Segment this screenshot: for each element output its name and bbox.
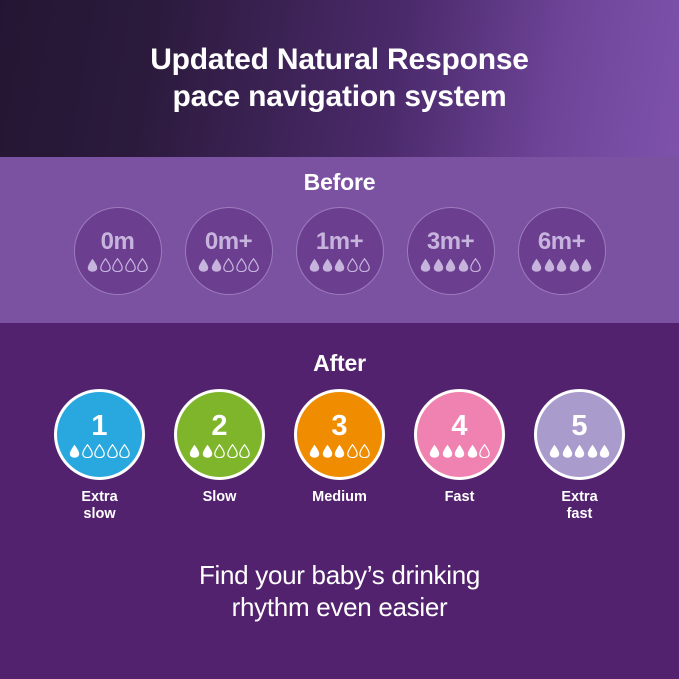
tagline-line-1: Find your baby’s drinking [0, 559, 679, 591]
droplet-outline-icon [107, 444, 118, 458]
droplet-filled-icon [531, 258, 542, 272]
before-circle: 0m [74, 207, 162, 295]
droplet-filled-icon [442, 444, 453, 458]
after-caption: Fast [445, 489, 475, 506]
after-circle-flow-5: 5 [534, 389, 625, 480]
before-droplet-row [87, 258, 148, 272]
before-circle: 1m+ [296, 207, 384, 295]
after-droplet-row [429, 444, 490, 458]
droplet-filled-icon [556, 258, 567, 272]
page-title: Updated Natural Response pace navigation… [110, 42, 569, 115]
after-number-label: 5 [571, 412, 587, 441]
droplet-filled-icon [420, 258, 431, 272]
after-section: After 1Extraslow2Slow3Medium4Fast5Extraf… [0, 323, 679, 679]
after-caption-line-1: Medium [312, 489, 367, 505]
before-section: Before 0m0m+1m+3m+6m+ [0, 157, 679, 323]
droplet-outline-icon [125, 258, 136, 272]
droplet-filled-icon [198, 258, 209, 272]
droplet-outline-icon [359, 444, 370, 458]
droplet-outline-icon [214, 444, 225, 458]
droplet-filled-icon [599, 444, 610, 458]
droplet-outline-icon [100, 258, 111, 272]
droplet-filled-icon [454, 444, 465, 458]
before-droplet-row [420, 258, 481, 272]
before-age-label: 3m+ [427, 230, 474, 254]
after-item-2: 2Slow [168, 389, 272, 506]
after-circle-flow-3: 3 [294, 389, 385, 480]
droplet-filled-icon [69, 444, 80, 458]
after-caption-line-1: Extra [561, 489, 597, 505]
after-circle-row: 1Extraslow2Slow3Medium4Fast5Extrafast [0, 389, 679, 523]
droplet-outline-icon [248, 258, 259, 272]
before-droplet-row [531, 258, 592, 272]
droplet-filled-icon [189, 444, 200, 458]
after-caption: Slow [203, 489, 237, 506]
after-caption-line-1: Slow [203, 489, 237, 505]
droplet-filled-icon [334, 258, 345, 272]
header-banner: Updated Natural Response pace navigation… [0, 0, 679, 157]
droplet-filled-icon [445, 258, 456, 272]
droplet-outline-icon [119, 444, 130, 458]
droplet-outline-icon [227, 444, 238, 458]
droplet-filled-icon [569, 258, 580, 272]
after-caption-line-2: slow [83, 506, 115, 522]
after-caption: Extraslow [81, 489, 117, 523]
after-droplet-row [549, 444, 610, 458]
droplet-filled-icon [581, 258, 592, 272]
before-age-label: 0m+ [205, 230, 252, 254]
after-droplet-row [189, 444, 250, 458]
after-item-1: 1Extraslow [48, 389, 152, 523]
before-item-3mplus: 3m+ [406, 207, 496, 295]
page-title-line-2: pace navigation system [150, 79, 529, 116]
after-caption: Medium [312, 489, 367, 506]
droplet-filled-icon [322, 258, 333, 272]
before-item-6mplus: 6m+ [517, 207, 607, 295]
tagline-line-2: rhythm even easier [0, 591, 679, 623]
droplet-filled-icon [334, 444, 345, 458]
droplet-outline-icon [347, 444, 358, 458]
droplet-filled-icon [211, 258, 222, 272]
after-circle-flow-1: 1 [54, 389, 145, 480]
after-item-3: 3Medium [288, 389, 392, 506]
droplet-filled-icon [429, 444, 440, 458]
before-circle-row: 0m0m+1m+3m+6m+ [0, 207, 679, 295]
droplet-filled-icon [574, 444, 585, 458]
before-item-0mplus: 0m+ [184, 207, 274, 295]
after-droplet-row [69, 444, 130, 458]
before-droplet-row [198, 258, 259, 272]
page-title-line-1: Updated Natural Response [150, 42, 529, 79]
after-caption-line-1: Extra [81, 489, 117, 505]
after-number-label: 1 [91, 412, 107, 441]
before-item-1mplus: 1m+ [295, 207, 385, 295]
droplet-filled-icon [467, 444, 478, 458]
before-item-0m: 0m [73, 207, 163, 295]
before-age-label: 1m+ [316, 230, 363, 254]
droplet-outline-icon [239, 444, 250, 458]
droplet-filled-icon [309, 258, 320, 272]
droplet-filled-icon [549, 444, 560, 458]
before-circle: 6m+ [518, 207, 606, 295]
droplet-outline-icon [82, 444, 93, 458]
before-circle: 3m+ [407, 207, 495, 295]
tagline: Find your baby’s drinking rhythm even ea… [0, 559, 679, 623]
droplet-outline-icon [236, 258, 247, 272]
droplet-outline-icon [470, 258, 481, 272]
droplet-filled-icon [322, 444, 333, 458]
droplet-outline-icon [223, 258, 234, 272]
before-circle: 0m+ [185, 207, 273, 295]
before-age-label: 0m [101, 230, 135, 254]
droplet-filled-icon [433, 258, 444, 272]
after-caption: Extrafast [561, 489, 597, 523]
before-droplet-row [309, 258, 370, 272]
droplet-filled-icon [87, 258, 98, 272]
droplet-outline-icon [112, 258, 123, 272]
after-number-label: 2 [211, 412, 227, 441]
droplet-filled-icon [458, 258, 469, 272]
after-caption-line-2: fast [567, 506, 593, 522]
after-circle-flow-2: 2 [174, 389, 265, 480]
droplet-outline-icon [347, 258, 358, 272]
after-heading: After [0, 323, 679, 377]
after-caption-line-1: Fast [445, 489, 475, 505]
after-number-label: 3 [331, 412, 347, 441]
droplet-filled-icon [587, 444, 598, 458]
before-heading: Before [0, 157, 679, 196]
droplet-filled-icon [562, 444, 573, 458]
droplet-filled-icon [202, 444, 213, 458]
droplet-filled-icon [544, 258, 555, 272]
infographic-root: Updated Natural Response pace navigation… [0, 0, 679, 679]
after-circle-flow-4: 4 [414, 389, 505, 480]
before-age-label: 6m+ [538, 230, 585, 254]
after-item-4: 4Fast [408, 389, 512, 506]
after-droplet-row [309, 444, 370, 458]
after-item-5: 5Extrafast [528, 389, 632, 523]
droplet-filled-icon [309, 444, 320, 458]
droplet-outline-icon [137, 258, 148, 272]
droplet-outline-icon [359, 258, 370, 272]
droplet-outline-icon [94, 444, 105, 458]
droplet-outline-icon [479, 444, 490, 458]
after-number-label: 4 [451, 412, 467, 441]
